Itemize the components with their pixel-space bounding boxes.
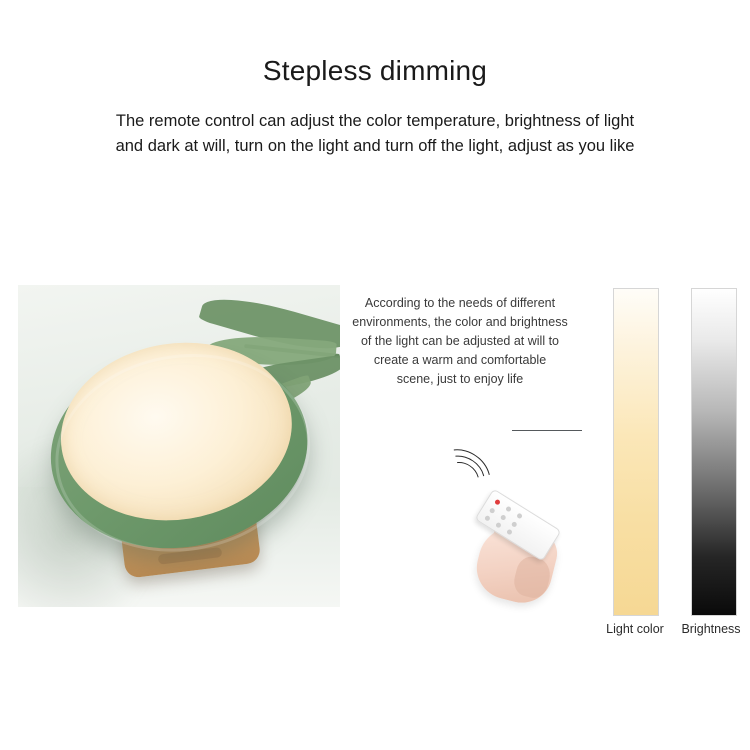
ceiling-lamp xyxy=(34,318,328,578)
description-text: According to the needs of different envi… xyxy=(326,294,594,389)
remote-button-icon xyxy=(505,506,512,513)
lamp-rim xyxy=(41,336,325,570)
description-line-1: According to the needs of different xyxy=(326,294,594,313)
subtitle-line-2: and dark at will, turn on the light and … xyxy=(116,137,635,155)
remote-button-icon xyxy=(506,529,513,536)
remote-button-icon xyxy=(495,522,502,529)
description-line-5: scene, just to enjoy life xyxy=(326,370,594,389)
remote-button-icon xyxy=(484,515,491,522)
remote-button-icon xyxy=(511,521,518,528)
remote-power-button-icon xyxy=(494,499,501,506)
product-photo xyxy=(18,285,340,607)
remote-button-icon xyxy=(500,514,507,521)
remote-button-icon xyxy=(516,512,523,519)
description-line-4: create a warm and comfortable xyxy=(326,351,594,370)
remote-button-icon xyxy=(489,507,496,514)
page-title: Stepless dimming xyxy=(0,0,750,87)
description-line-2: environments, the color and brightness xyxy=(326,313,594,332)
brightness-gradient-bar xyxy=(691,288,737,616)
divider xyxy=(512,430,582,431)
header: Stepless dimming The remote control can … xyxy=(0,0,750,160)
page-subtitle: The remote control can adjust the color … xyxy=(35,87,715,160)
subtitle-line-1: The remote control can adjust the color … xyxy=(116,112,634,130)
light-color-gradient-bar xyxy=(613,288,659,616)
remote-illustration xyxy=(430,455,600,615)
description-line-3: of the light can be adjusted at will to xyxy=(326,332,594,351)
brightness-label: Brightness xyxy=(663,622,750,636)
